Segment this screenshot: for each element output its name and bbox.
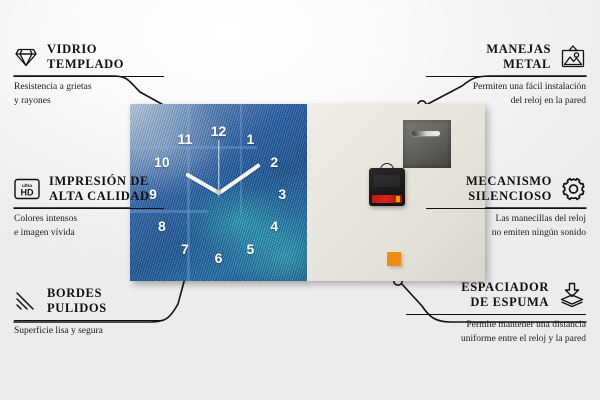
feature-mecanismo-silencioso: MECANISMO SILENCIOSO Las manecillas del … [426,174,586,240]
feature-impresion-alta-calidad: ultra HD IMPRESIÓN DE ALTA CALIDAD Color… [14,174,164,240]
clock-numeral-10: 10 [154,155,170,169]
feature-rule [14,320,164,321]
feature-desc-line2: y rayones [14,95,164,109]
feature-vidrio-templado: VIDRIO TEMPLADO Resistencia a grietas y … [14,42,164,108]
feature-title-line1: IMPRESIÓN DE [49,174,150,189]
clock-numeral-4: 4 [270,219,278,233]
feature-desc-line1: Las manecillas del reloj [426,213,586,227]
feature-desc-line1: Permiten una fácil instalación [426,81,586,95]
feature-rule [426,208,586,209]
hanger-slot [412,131,440,136]
feature-desc-line2: del reloj en la pared [426,95,586,109]
aa-battery [372,195,402,203]
clock-numeral-3: 3 [278,187,286,201]
clock-second-hand [218,140,219,197]
feature-title-line2: PULIDOS [47,301,107,316]
clock-numeral-7: 7 [181,242,189,256]
feature-bordes-pulidos: BORDES PULIDOS Superficie lisa y segura [14,286,164,339]
feature-title-line2: ALTA CALIDAD [49,189,150,204]
clock-numeral-5: 5 [246,242,254,256]
feature-desc-line2: uniforme entre el reloj y la pared [406,333,586,347]
feature-title-line1: MECANISMO [466,174,552,189]
feature-desc-line1: Permite mantener una distancia [406,319,586,333]
feature-title-line1: ESPACIADOR [461,280,549,295]
feature-description: Resistencia a grietas y rayones [14,81,164,109]
foam-spacer-arrow-icon [558,282,586,308]
feature-espaciador-espuma: ESPACIADOR DE ESPUMA Permite mantener un… [406,280,586,346]
feature-title-line2: METAL [486,57,551,72]
feature-rule [406,314,586,315]
feature-desc-line1: Superficie lisa y segura [14,325,164,339]
framed-picture-hanging-icon [560,45,586,69]
feature-description: Permite mantener una distancia uniforme … [406,319,586,347]
clock-numeral-2: 2 [270,155,278,169]
feature-desc-line1: Colores intensos [14,213,164,227]
infographic-canvas: 12 1 2 3 4 5 6 7 8 9 10 11 [0,0,600,400]
feature-desc-line2: e imagen vívida [14,227,164,241]
feature-description: Las manecillas del reloj no emiten ningú… [426,213,586,241]
feature-desc-line1: Resistencia a grietas [14,81,164,95]
ultra-hd-icon-large-text: HD [21,188,34,198]
feature-title-line1: VIDRIO [47,42,124,57]
ultra-hd-icon: ultra HD [14,178,40,200]
polished-edges-icon [14,290,38,312]
clock-numeral-1: 1 [246,132,254,146]
movement-hook [380,163,394,170]
feature-description: Colores intensos e imagen vívida [14,213,164,241]
diamond-icon [14,46,38,68]
quartz-movement-box [369,168,405,206]
feature-title-line2: TEMPLADO [47,57,124,72]
feature-rule [14,208,164,209]
feature-description: Superficie lisa y segura [14,325,164,339]
clock-numeral-6: 6 [215,251,223,265]
clock-numeral-12: 12 [211,124,227,138]
clock-numeral-11: 11 [177,132,192,146]
movement-label [374,175,400,187]
feature-title-line1: BORDES [47,286,107,301]
feature-title-line1: MANEJAS [486,42,551,57]
feature-manejas-metal: MANEJAS METAL Permiten una fácil instala… [426,42,586,108]
foam-spacer-pad [387,252,401,266]
feature-rule [426,76,586,77]
metal-hanger-plate [403,120,451,168]
gear-icon [561,177,586,201]
feature-title-line2: DE ESPUMA [461,295,549,310]
feature-desc-line2: no emiten ningún sonido [426,227,586,241]
feature-rule [14,76,164,77]
feature-description: Permiten una fácil instalación del reloj… [426,81,586,109]
clock-center-cap [216,190,221,195]
feature-title-line2: SILENCIOSO [466,189,552,204]
